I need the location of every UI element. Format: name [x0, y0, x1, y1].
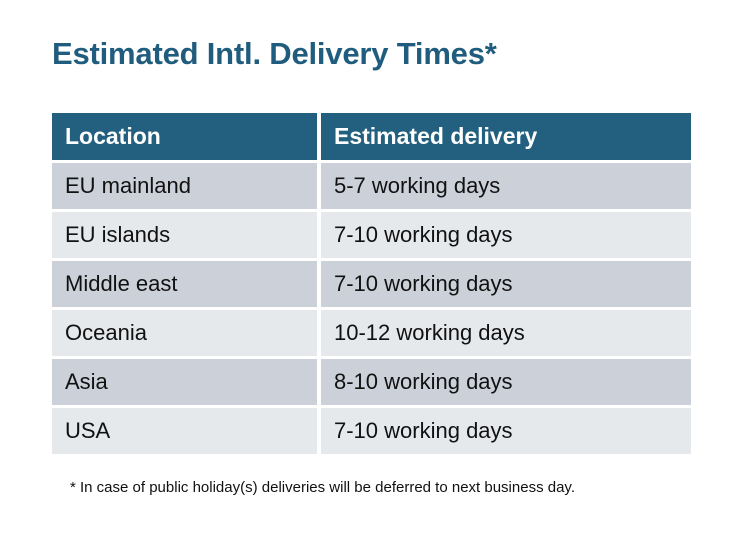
cell-location: Oceania [52, 310, 317, 356]
table-row: EU mainland 5-7 working days [52, 163, 691, 209]
cell-location: Middle east [52, 261, 317, 307]
cell-location: EU mainland [52, 163, 317, 209]
delivery-times-table: Location Estimated delivery EU mainland … [52, 113, 691, 457]
table-row: USA 7-10 working days [52, 408, 691, 454]
cell-delivery: 7-10 working days [321, 261, 691, 307]
cell-delivery: 10-12 working days [321, 310, 691, 356]
cell-delivery: 7-10 working days [321, 408, 691, 454]
table-row: Asia 8-10 working days [52, 359, 691, 405]
cell-delivery: 8-10 working days [321, 359, 691, 405]
cell-location: USA [52, 408, 317, 454]
table-row: Oceania 10-12 working days [52, 310, 691, 356]
page-title: Estimated Intl. Delivery Times* [52, 36, 497, 72]
table-row: EU islands 7-10 working days [52, 212, 691, 258]
cell-location: Asia [52, 359, 317, 405]
column-header-location: Location [52, 113, 317, 160]
cell-delivery: 7-10 working days [321, 212, 691, 258]
delivery-times-page: Estimated Intl. Delivery Times* Location… [0, 0, 745, 536]
footnote-text: * In case of public holiday(s) deliverie… [70, 479, 575, 496]
table-row: Middle east 7-10 working days [52, 261, 691, 307]
table-header-row: Location Estimated delivery [52, 113, 691, 160]
cell-delivery: 5-7 working days [321, 163, 691, 209]
cell-location: EU islands [52, 212, 317, 258]
column-header-estimated-delivery: Estimated delivery [321, 113, 691, 160]
